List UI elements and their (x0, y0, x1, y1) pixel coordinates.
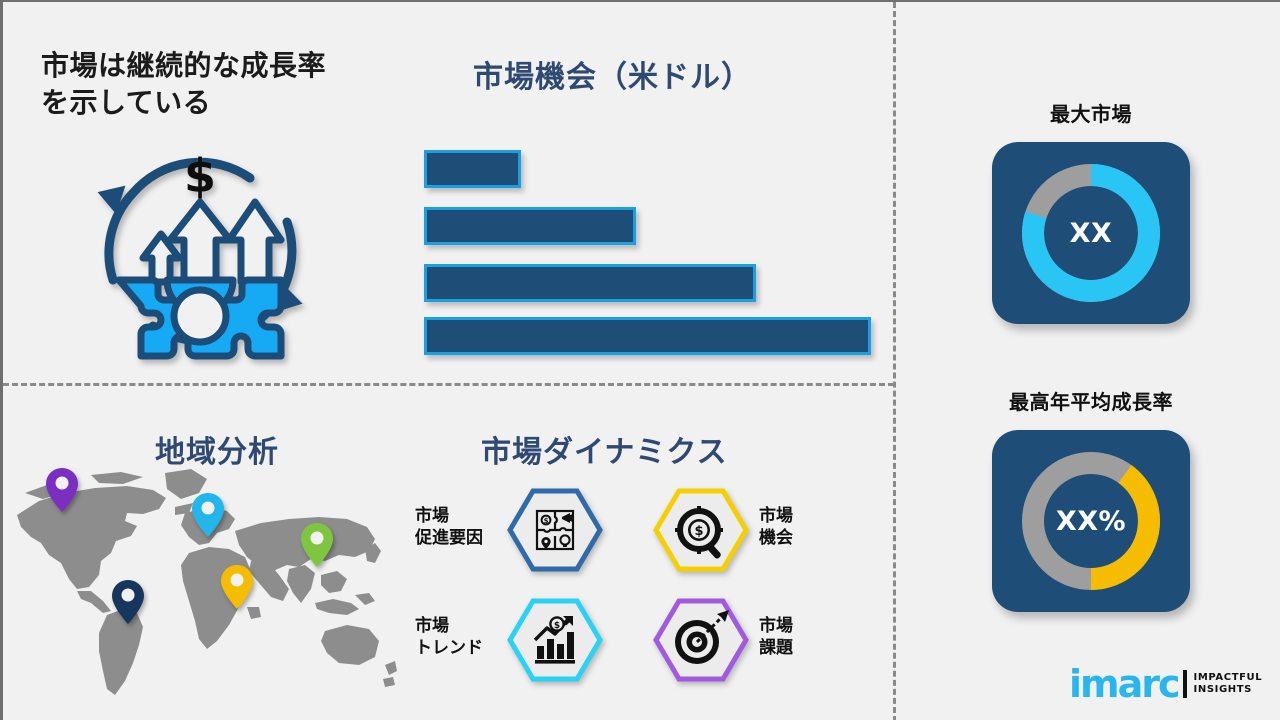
pin-north-america (45, 467, 79, 513)
dynamics-item-challenges[interactable]: 市場 課題 (653, 598, 851, 676)
svg-text:$: $ (544, 517, 549, 525)
dynamics-item-opportunities[interactable]: $ 市場 機会 (653, 488, 851, 566)
horizontal-divider (3, 383, 894, 386)
dynamics-item-opportunities-label: 市場 機会 (759, 505, 851, 550)
opportunity-panel-title: 市場機会（米ドル） (473, 52, 752, 96)
svg-text:$: $ (184, 149, 216, 203)
bar-4 (424, 317, 871, 355)
pin-middle-east (220, 564, 254, 610)
vertical-divider (893, 2, 896, 720)
pin-europe (191, 492, 225, 538)
dynamics-item-challenges-label: 市場 課題 (759, 615, 851, 660)
kpi-card-0-title: 最大市場 (961, 98, 1221, 127)
logo-divider (1183, 670, 1187, 698)
pin-south-america (111, 579, 145, 625)
magnifier-dollar-target-icon: $ (653, 488, 749, 566)
svg-text:$: $ (554, 621, 560, 631)
dynamics-item-trends[interactable]: 市場 トレンド $ (415, 598, 603, 676)
opportunity-bar-chart (424, 150, 884, 355)
imarc-logo-mark: imarc (1069, 665, 1179, 703)
kpi-card-1-value: XX% (992, 430, 1190, 612)
puzzle-drivers-icon: $ (507, 488, 603, 566)
pin-east-asia (300, 522, 334, 568)
svg-text:$: $ (694, 524, 703, 539)
imarc-logo-tagline: IMPACTFUL INSIGHTS (1194, 672, 1263, 697)
dynamics-item-drivers-label: 市場 促進要因 (415, 505, 507, 550)
world-map (3, 457, 403, 707)
dynamics-item-drivers[interactable]: 市場 促進要因 $ (415, 488, 603, 566)
slide-canvas: 市場は継続的な成長率 を示している $ (0, 0, 1280, 720)
kpi-card-1-title: 最高年平均成長率 (961, 386, 1221, 415)
kpi-card-0: XX (992, 142, 1190, 324)
kpi-card-1: XX% (992, 430, 1190, 612)
bar-1 (424, 150, 521, 188)
growth-bar-chart-icon: $ (507, 598, 603, 676)
kpi-card-0-value: XX (992, 142, 1190, 324)
bar-2 (424, 207, 636, 245)
dynamics-panel-title: 市場ダイナミクス (481, 427, 728, 471)
bar-3 (424, 264, 756, 302)
growth-cycle-gear-icon: $ (75, 130, 325, 370)
target-dart-icon (653, 598, 749, 676)
dynamics-item-trends-label: 市場 トレンド (415, 615, 507, 660)
imarc-logo[interactable]: imarc IMPACTFUL INSIGHTS (1069, 664, 1262, 704)
growth-panel-title: 市場は継続的な成長率 を示している (41, 48, 391, 122)
